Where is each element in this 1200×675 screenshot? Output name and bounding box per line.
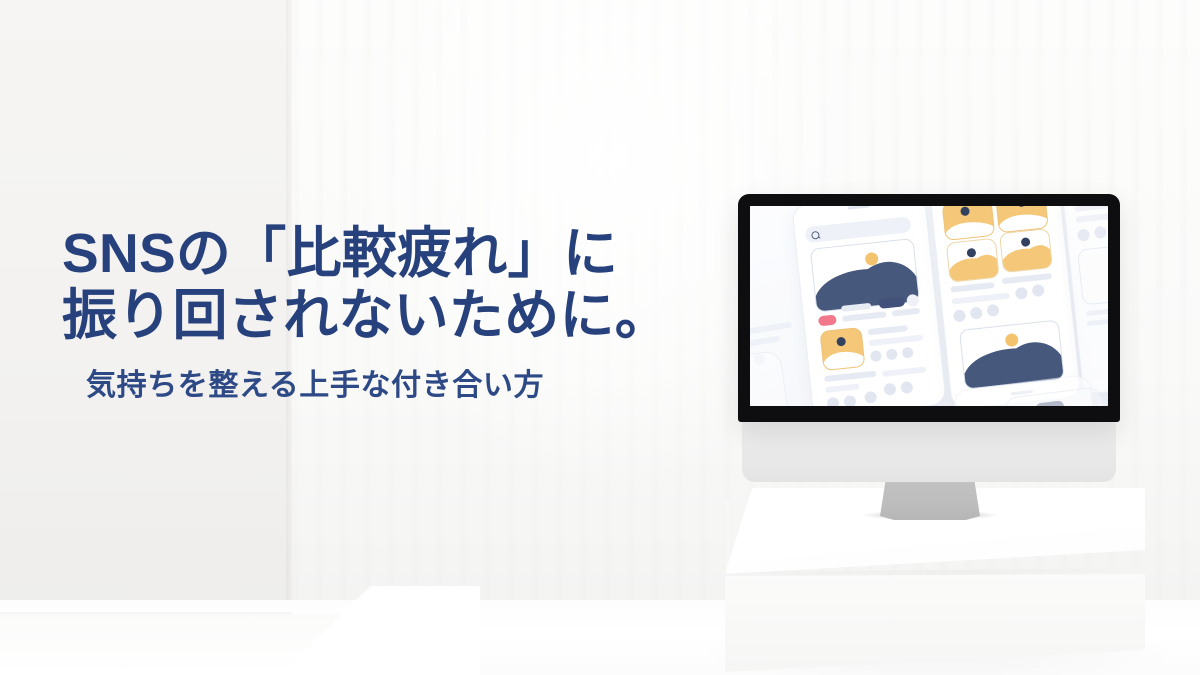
text-block: SNSの「比較疲れ」に振り回されないために。 気持ちを整える上手な付き合い方	[62, 222, 762, 405]
slide-canvas: SNSの「比較疲れ」に振り回されないために。 気持ちを整える上手な付き合い方	[0, 0, 1200, 675]
content-dot-b2	[1032, 284, 1045, 297]
ghost-card-c1	[1077, 241, 1108, 306]
content-dot-a5	[843, 395, 856, 406]
amber-card-dot	[836, 337, 846, 347]
content-chip-a1	[906, 294, 919, 307]
content-bar-c3	[1086, 305, 1108, 316]
pink-pill-tag[interactable]	[818, 315, 837, 327]
content-dot-b5	[986, 304, 999, 317]
grid-card-dot-1	[960, 206, 970, 216]
monitor-chin-bezel	[742, 420, 1116, 482]
grid-card-wave-4	[1000, 246, 1053, 273]
amber-thumbnail-card[interactable]	[819, 327, 865, 371]
navy-pill-button[interactable]	[878, 296, 905, 309]
content-dot-b1	[1015, 287, 1028, 300]
sun-icon-2	[1005, 333, 1019, 347]
content-dot-b4	[970, 307, 983, 320]
content-dot-a8	[900, 381, 913, 394]
amber-grid-card-3[interactable]	[946, 238, 1000, 283]
content-dot-a1	[870, 350, 882, 362]
phone-mockup-primary	[791, 206, 947, 406]
content-bar-b1	[950, 282, 994, 293]
content-dot-a7	[883, 383, 896, 396]
headline-line-2: 振り回されないために。	[62, 284, 670, 346]
content-bar-a7	[825, 383, 859, 393]
content-bar-a4	[868, 325, 908, 335]
content-dot-a2	[886, 348, 898, 360]
grid-card-wave-3	[947, 255, 1000, 282]
content-bar-a2	[842, 311, 886, 322]
screen-artwork	[750, 206, 1108, 406]
phone-mockup-secondary	[928, 206, 1081, 406]
baseboard	[0, 612, 292, 616]
content-bar-c1	[1074, 206, 1108, 212]
monitor-stand-neck	[880, 478, 980, 520]
floor-corner-edge	[180, 586, 480, 675]
amber-grid-card-1[interactable]	[942, 206, 996, 241]
content-bar-b2	[1002, 273, 1052, 284]
content-bar-a3	[892, 308, 920, 317]
headline-line-1: SNSの「比較疲れ」に	[62, 222, 618, 284]
phone-notch	[848, 206, 870, 210]
content-bar-b3	[952, 293, 1010, 305]
grid-card-dot-3	[966, 248, 976, 258]
amber-card-wave	[821, 349, 866, 371]
content-bar-a8	[882, 366, 926, 377]
content-dot-a6	[864, 391, 877, 404]
content-bar-c2	[1076, 212, 1108, 223]
page-subtitle: 気持ちを整える上手な付き合い方	[86, 366, 762, 405]
content-dot-b3	[953, 309, 966, 322]
content-bar-c4	[1087, 317, 1108, 326]
content-bar-a5	[869, 335, 923, 347]
content-dot-c1	[1077, 228, 1090, 241]
content-bar-a6	[824, 371, 876, 382]
content-dot-a3	[902, 347, 914, 359]
grid-card-dot-2	[1016, 206, 1026, 207]
monitor-screen[interactable]	[750, 206, 1108, 406]
monitor	[738, 194, 1120, 422]
page-title: SNSの「比較疲れ」に振り回されないために。	[62, 222, 762, 346]
grid-card-dot-4	[1021, 237, 1031, 247]
content-dot-c2	[1094, 226, 1107, 239]
amber-grid-card-4[interactable]	[999, 228, 1053, 273]
content-dot-a4	[826, 397, 839, 406]
